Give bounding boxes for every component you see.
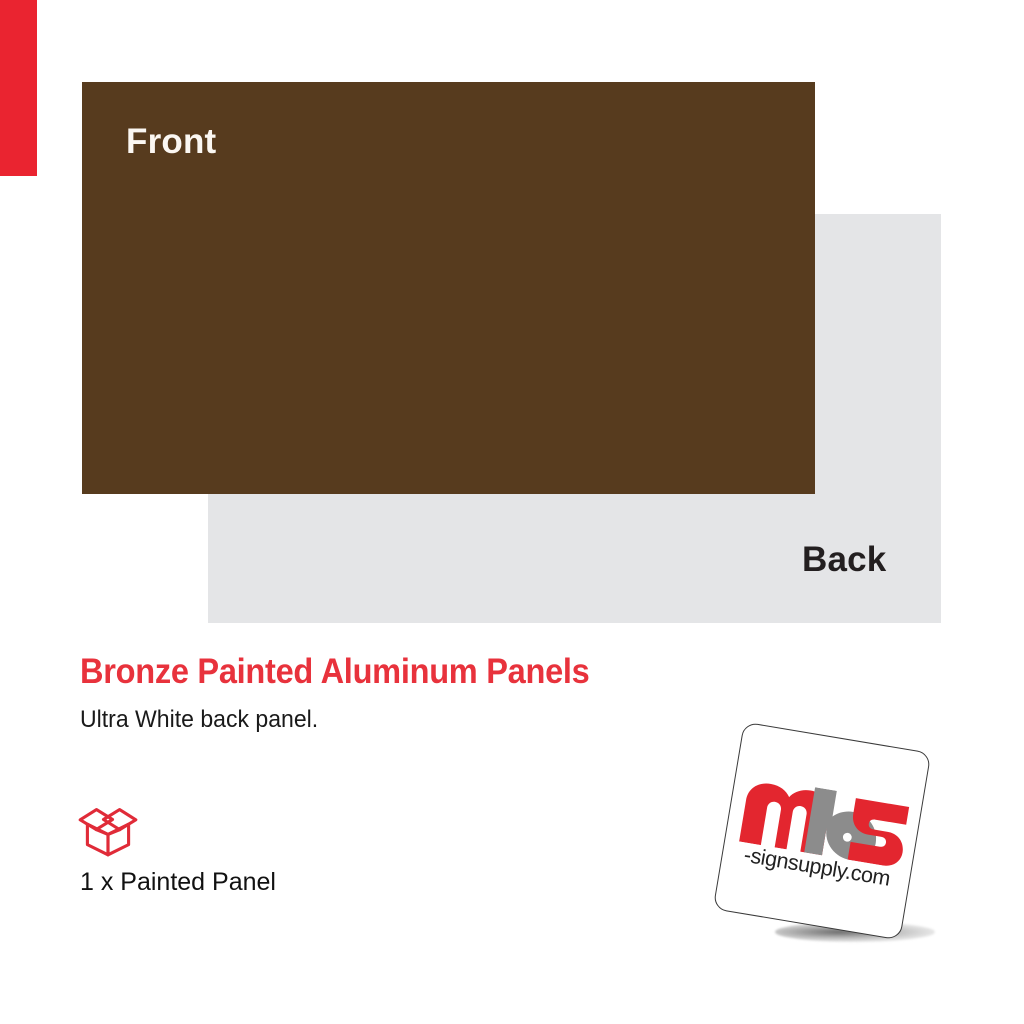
logo-card: -signsupply.com [713,722,932,941]
product-spec-sheet: Front Back Bronze Painted Aluminum Panel… [0,0,1024,1024]
back-panel-label: Back [802,542,886,577]
product-title: Bronze Painted Aluminum Panels [80,652,590,692]
product-panel-illustration: Front Back [0,0,1024,640]
brand-logo: -signsupply.com [703,724,953,959]
open-box-icon [77,806,139,858]
package-contents-text: 1 x Painted Panel [80,868,276,897]
front-panel-label: Front [126,124,216,159]
product-subtitle: Ultra White back panel. [80,706,318,734]
